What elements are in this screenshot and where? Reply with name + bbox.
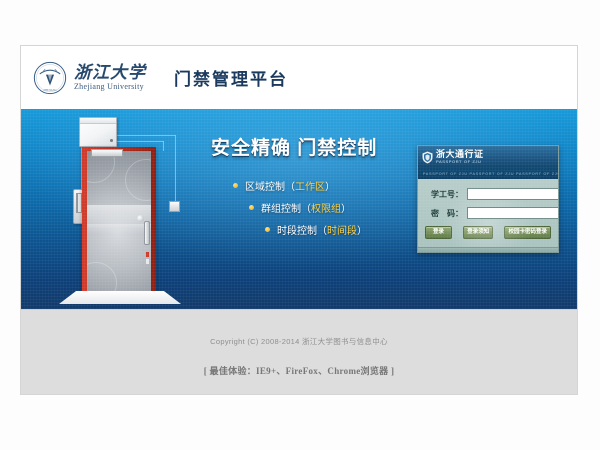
access-control-illustration (39, 109, 199, 309)
glass-door-icon (82, 147, 156, 295)
door-closer-arm (91, 149, 123, 157)
door-highlight-band-2 (87, 224, 151, 234)
site-footer: Copyright (C) 2008-2014 浙江大学图书与信息中心 [ 最佳… (21, 309, 577, 395)
door-knob (137, 215, 144, 222)
page-root: ZHEJIANG 浙江大学 Zhejiang University 门禁管理平台 (0, 0, 600, 450)
field-row-username: 学工号： (425, 188, 551, 200)
password-label: 密 码： (425, 208, 463, 219)
field-row-password: 密 码： (425, 207, 551, 219)
login-notice-button[interactable]: 登录须知 (463, 226, 493, 239)
bullet-text: 时段控制（ (277, 222, 327, 237)
page-title: 门禁管理平台 (174, 65, 288, 90)
bullet-text: 群组控制（ (261, 200, 311, 215)
slogan-bullet-area-control: 区域控制（ 工作区 ） (233, 178, 401, 193)
watermark-text: PASSPORT OF ZJU PASSPORT OF ZJU PASSPORT… (418, 172, 558, 176)
hero-banner: 安全精确 门禁控制 区域控制（ 工作区 ） 群组控制（ 权限组 ） (21, 109, 577, 309)
slogan-headline: 安全精确 门禁控制 (211, 133, 401, 160)
username-label: 学工号： (425, 189, 463, 200)
wire-controller-to-door (114, 141, 164, 142)
slogan-bullet-list: 区域控制（ 工作区 ） 群组控制（ 权限组 ） 时段控制（ 时间段 (211, 178, 401, 237)
campus-card-login-button[interactable]: 校园卡密码登录 (504, 226, 551, 239)
footer-copyright: Copyright (C) 2008-2014 浙江大学图书与信息中心 (21, 310, 577, 347)
controller-lid (80, 118, 116, 124)
university-name-en: Zhejiang University (74, 83, 146, 91)
wire-door-drop (163, 141, 164, 151)
login-panel-header: 浙大通行证 PASSPORT OF ZJU (418, 146, 558, 168)
wire-controller-to-sensor (114, 135, 176, 136)
door-led-white (146, 259, 149, 264)
controller-led (110, 139, 113, 142)
login-title-cn: 浙大通行证 (436, 150, 484, 159)
passport-watermark-strip: PASSPORT OF ZJU PASSPORT OF ZJU PASSPORT… (418, 168, 558, 179)
login-panel: 浙大通行证 PASSPORT OF ZJU PASSPORT OF ZJU PA… (417, 145, 559, 253)
bullet-tail: ） (325, 178, 335, 193)
login-panel-footer (418, 247, 558, 252)
door-swirl-2 (125, 159, 151, 201)
content-card: ZHEJIANG 浙江大学 Zhejiang University 门禁管理平台 (20, 45, 578, 395)
university-name: 浙江大学 Zhejiang University (74, 64, 146, 91)
door-led-red (146, 252, 149, 257)
password-input[interactable] (467, 207, 558, 219)
slogan-bullet-time-control: 时段控制（ 时间段 ） (265, 222, 401, 237)
site-header: ZHEJIANG 浙江大学 Zhejiang University 门禁管理平台 (21, 46, 577, 109)
bullet-highlight: 权限组 (311, 200, 341, 215)
username-input[interactable] (467, 188, 558, 200)
bullet-tail: ） (341, 200, 351, 215)
bullet-dot-icon (249, 205, 254, 210)
zju-crest-icon: ZHEJIANG (33, 61, 67, 95)
svg-text:ZHEJIANG: ZHEJIANG (43, 88, 56, 91)
bullet-dot-icon (265, 227, 270, 232)
slogan-bullet-group-control: 群组控制（ 权限组 ） (249, 200, 401, 215)
bullet-dot-icon (233, 183, 238, 188)
access-controller-box-icon (79, 117, 117, 147)
login-button-row: 登录 登录须知 校园卡密码登录 (425, 226, 551, 239)
shield-icon (422, 151, 433, 164)
wire-down-to-sensor (175, 135, 176, 203)
login-title-block: 浙大通行证 PASSPORT OF ZJU (436, 150, 484, 165)
login-form: 学工号： 密 码： 登录 登录须知 校园卡密码登录 (418, 179, 558, 247)
floor-platform (59, 291, 181, 304)
door-swirl-3 (87, 262, 117, 292)
login-button[interactable]: 登录 (425, 226, 452, 239)
door-sensor-icon (169, 201, 180, 212)
footer-browser-note: [ 最佳体验：IE9+、FireFox、Chrome浏览器 ] (21, 347, 577, 377)
login-title-en: PASSPORT OF ZJU (436, 160, 484, 164)
bullet-tail: ） (357, 222, 367, 237)
banner-slogan: 安全精确 门禁控制 区域控制（ 工作区 ） 群组控制（ 权限组 ） (211, 133, 401, 244)
brand-logo[interactable]: ZHEJIANG 浙江大学 Zhejiang University (33, 61, 146, 95)
door-handle (144, 221, 150, 245)
bullet-highlight: 时间段 (327, 222, 357, 237)
bullet-text: 区域控制（ (245, 178, 295, 193)
bullet-highlight: 工作区 (295, 178, 325, 193)
university-name-cn: 浙江大学 (74, 64, 146, 81)
